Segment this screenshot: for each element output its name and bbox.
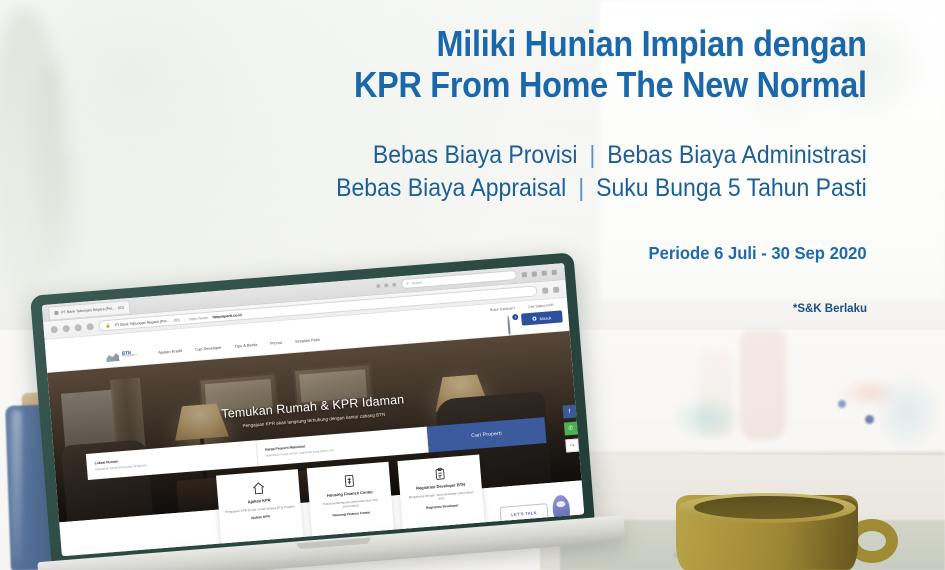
promo-headline-line1: Miliki Hunian Impian dengan — [354, 24, 867, 65]
promo-headline: Miliki Hunian Impian dengan KPR From Hom… — [354, 24, 867, 105]
promo-benefits: Bebas Biaya Provisi | Bebas Biaya Admini… — [336, 139, 867, 206]
benefit-suku-bunga: Suku Bunga 5 Tahun Pasti — [596, 174, 867, 202]
promo-terms-note: *S&K Berlaku — [793, 303, 867, 315]
benefit-separator: | — [584, 141, 601, 169]
promo-text-overlay: Miliki Hunian Impian dengan KPR From Hom… — [0, 0, 945, 570]
promo-benefit-row-1: Bebas Biaya Provisi | Bebas Biaya Admini… — [336, 139, 867, 172]
benefit-bebas-biaya-administrasi: Bebas Biaya Administrasi — [607, 141, 867, 169]
benefit-bebas-biaya-provisi: Bebas Biaya Provisi — [373, 141, 578, 169]
promo-benefit-row-2: Bebas Biaya Appraisal | Suku Bunga 5 Tah… — [336, 172, 867, 205]
benefit-separator-2: | — [573, 174, 590, 202]
benefit-bebas-biaya-appraisal: Bebas Biaya Appraisal — [336, 174, 566, 202]
promo-headline-line2: KPR From Home The New Normal — [354, 65, 867, 106]
promo-period: Periode 6 Juli - 30 Sep 2020 — [649, 243, 867, 264]
